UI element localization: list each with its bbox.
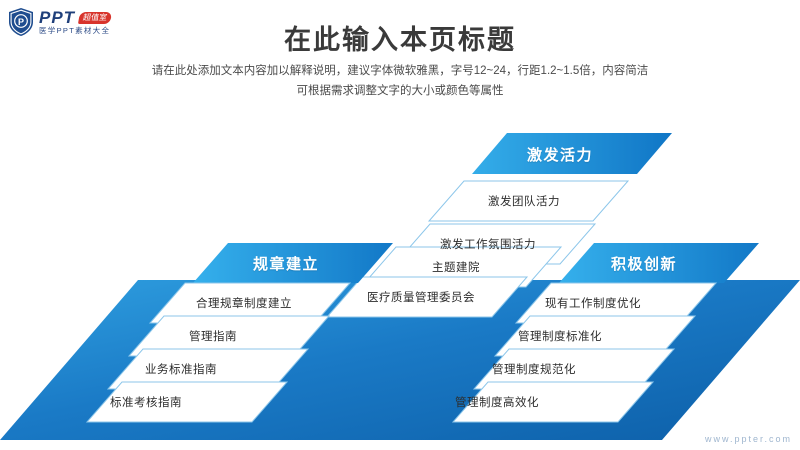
column-header-right[interactable]: 积极创新 <box>611 253 677 274</box>
pyramid-diagram: 激发活力 激发团队活力 激发工作氛围活力 主题建院 医疗质量管理委员会 规章建立… <box>0 0 800 450</box>
row-label-right-2[interactable]: 管理制度标准化 <box>518 328 602 344</box>
row-label-middle-4[interactable]: 医疗质量管理委员会 <box>367 289 475 305</box>
row-label-left-2[interactable]: 管理指南 <box>189 328 237 344</box>
column-header-middle[interactable]: 激发活力 <box>527 144 593 165</box>
row-label-right-4[interactable]: 管理制度高效化 <box>455 394 539 410</box>
column-header-left[interactable]: 规章建立 <box>253 253 319 274</box>
site-watermark: www.ppter.com <box>705 434 792 444</box>
row-label-left-3[interactable]: 业务标准指南 <box>145 361 217 377</box>
slide-canvas: P PPT 超值室 医学PPT素材大全 在此输入本页标题 请在此处添加文本内容加… <box>0 0 800 450</box>
row-label-right-3[interactable]: 管理制度规范化 <box>492 361 576 377</box>
row-label-left-1[interactable]: 合理规章制度建立 <box>196 295 292 311</box>
row-label-right-1[interactable]: 现有工作制度优化 <box>545 295 641 311</box>
row-label-left-4[interactable]: 标准考核指南 <box>110 394 182 410</box>
row-label-middle-3[interactable]: 主题建院 <box>432 259 480 275</box>
row-label-middle-2[interactable]: 激发工作氛围活力 <box>440 236 536 252</box>
row-label-middle-1[interactable]: 激发团队活力 <box>488 193 560 209</box>
diagram-shapes <box>0 0 800 450</box>
